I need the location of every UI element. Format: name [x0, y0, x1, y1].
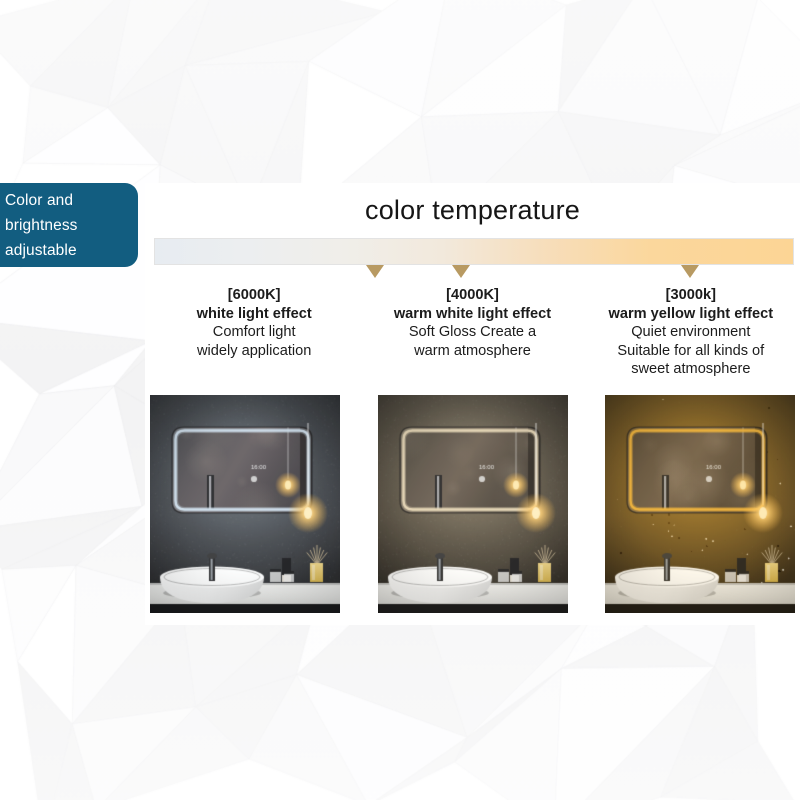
pointer-triangle-3000k — [681, 265, 699, 278]
caption-row: [6000K] white light effect Comfort light… — [145, 286, 800, 379]
effect-label-6000k: white light effect — [145, 305, 363, 324]
desc-line-6000k-2: widely application — [145, 342, 363, 361]
effect-label-4000k: warm white light effect — [363, 305, 581, 324]
kelvin-label-6000k: [6000K] — [145, 286, 363, 305]
badge-color-brightness-adjustable: Color and brightness adjustable — [0, 183, 138, 267]
caption-column-3000k: [3000k] warm yellow light effect Quiet e… — [582, 286, 800, 379]
badge-line-2: brightness — [5, 213, 138, 238]
kelvin-label-4000k: [4000K] — [363, 286, 581, 305]
caption-column-6000k: [6000K] white light effect Comfort light… — [145, 286, 363, 379]
panel-footer-strip — [145, 617, 800, 625]
badge-line-3: adjustable — [5, 238, 138, 263]
product-photo-4000k[interactable] — [378, 395, 568, 613]
effect-label-3000k: warm yellow light effect — [582, 305, 800, 324]
desc-line-6000k-1: Comfort light — [145, 323, 363, 342]
desc-line-3000k-2: Suitable for all kinds of — [582, 342, 800, 361]
desc-line-4000k-1: Soft Gloss Create a — [363, 323, 581, 342]
pointer-triangle-6000k — [366, 265, 384, 278]
desc-line-3000k-3: sweet atmosphere — [582, 360, 800, 379]
product-photo-6000k[interactable] — [150, 395, 340, 613]
product-photo-row — [150, 395, 795, 617]
desc-line-4000k-2: warm atmosphere — [363, 342, 581, 361]
badge-line-1: Color and — [5, 188, 138, 213]
caption-column-4000k: [4000K] warm white light effect Soft Glo… — [363, 286, 581, 379]
desc-line-3000k-1: Quiet environment — [582, 323, 800, 342]
pointer-triangle-4000k — [452, 265, 470, 278]
kelvin-label-3000k: [3000k] — [582, 286, 800, 305]
color-temperature-gradient-bar — [154, 238, 794, 265]
page-title: color temperature — [145, 195, 800, 226]
content-panel: color temperature [6000K] white light ef… — [145, 183, 800, 625]
product-photo-3000k[interactable] — [605, 395, 795, 613]
